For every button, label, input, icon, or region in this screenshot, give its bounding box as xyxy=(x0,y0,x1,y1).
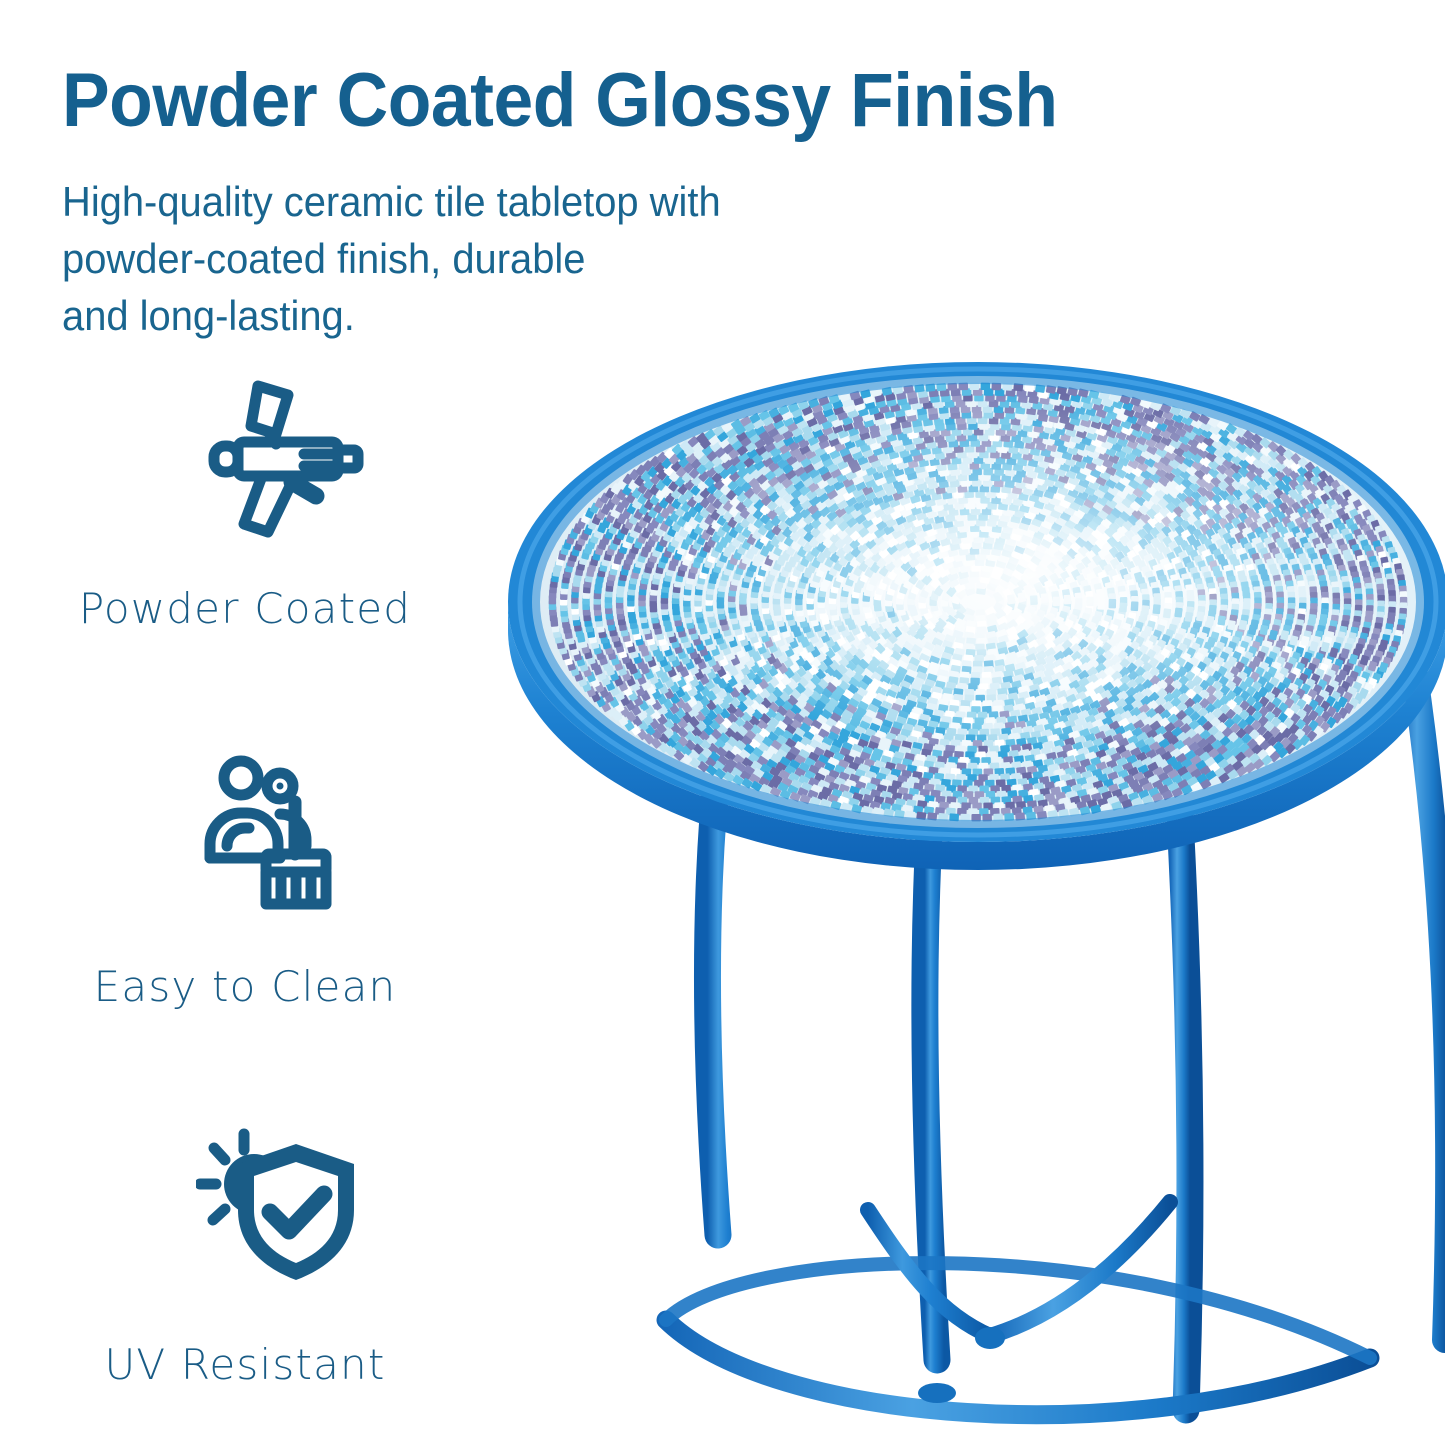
feature-item-uv-resistant: UV Resistant xyxy=(0,1128,490,1445)
feature-label: Powder Coated xyxy=(0,584,490,633)
product-image-mosaic-bistro-table xyxy=(470,330,1445,1445)
feature-item-easy-to-clean: Easy to Clean xyxy=(0,750,490,1128)
tabletop xyxy=(508,362,1445,870)
feature-label: Easy to Clean xyxy=(0,962,490,1011)
page-subtitle: High-quality ceramic tile tabletop with … xyxy=(62,173,1155,344)
cleaning-person-brush-icon xyxy=(196,750,366,920)
spray-gun-icon xyxy=(196,372,366,542)
table-base-ring xyxy=(666,1202,1370,1415)
sun-shield-check-icon xyxy=(196,1128,366,1298)
feature-item-powder-coated: Powder Coated xyxy=(0,372,490,750)
feature-label: UV Resistant xyxy=(0,1340,490,1389)
product-feature-banner: Powder Coated Glossy Finish High-quality… xyxy=(0,0,1445,1445)
headline-block: Powder Coated Glossy Finish High-quality… xyxy=(62,63,1212,344)
page-title: Powder Coated Glossy Finish xyxy=(62,63,1143,139)
feature-list: Powder Coated xyxy=(0,372,490,1445)
